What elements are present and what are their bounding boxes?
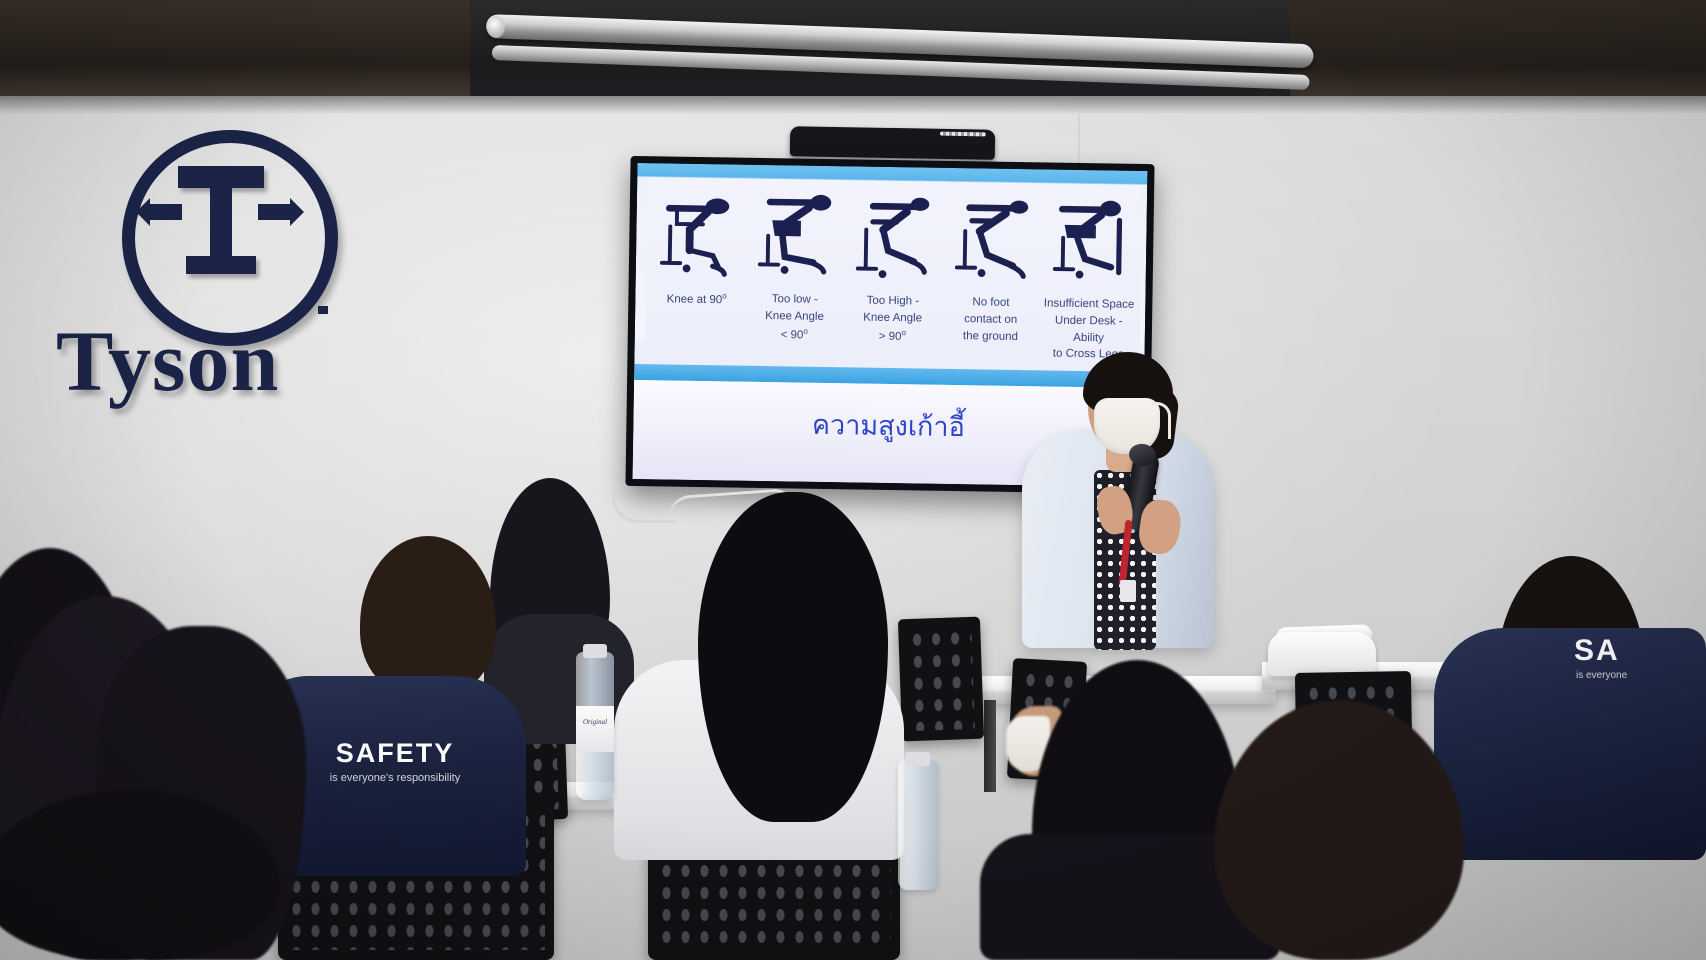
face-mask-strap [1152,402,1171,439]
posture-figure-row [646,179,1142,291]
figure-insufficient-space [1047,185,1135,291]
figure-no-foot-contact [948,184,1036,290]
light-bar-end-cap [487,16,505,38]
water-bottle-cap-left [583,644,607,658]
safety-shirt-headline: SAFETY [300,738,490,769]
safety-shirt-subline: is everyone's responsibility [300,772,490,784]
logo-arrow-left-icon [148,204,182,220]
caption-knee-at-90: Knee at 90o [650,290,743,358]
figure-caption-row: Knee at 90o Too low - Knee Angle < 90o T… [645,290,1141,364]
desk-phone [1268,632,1376,676]
figure-too-low [752,181,840,287]
figure-knee-at-90 [653,179,741,285]
chair-center-back[interactable] [898,617,984,742]
logo-t-icon [178,166,264,278]
water-bottle-center [898,760,938,890]
presentation-room-photo: Tyson [0,0,1706,960]
safety-shirt-right-headline: SA [1574,634,1704,668]
table-leg-center [984,700,996,792]
figure-too-high [850,182,938,288]
caption-too-high: Too High - Knee Angle > 90o [846,293,939,361]
safety-shirt-right-subline: is everyone [1576,670,1706,681]
bottle-label-text: Original [576,718,614,726]
caption-too-low: Too low - Knee Angle < 90o [748,291,841,359]
water-bottle-label-left: Original [576,706,614,752]
caption-no-foot-contact: No foot contact on the ground [944,294,1037,362]
wall-ceiling-edge [0,96,1706,114]
presenter-badge [1120,580,1136,602]
camera-led-strip-icon [940,132,986,137]
tyson-wordmark: Tyson [56,318,356,404]
trademark-mark [318,306,328,314]
logo-arrow-right-icon [258,204,292,220]
water-bottle-cap-center [905,752,930,766]
tyson-logo: Tyson [50,118,350,378]
tv-cable [612,476,675,523]
ceiling-beam-left [0,0,470,108]
